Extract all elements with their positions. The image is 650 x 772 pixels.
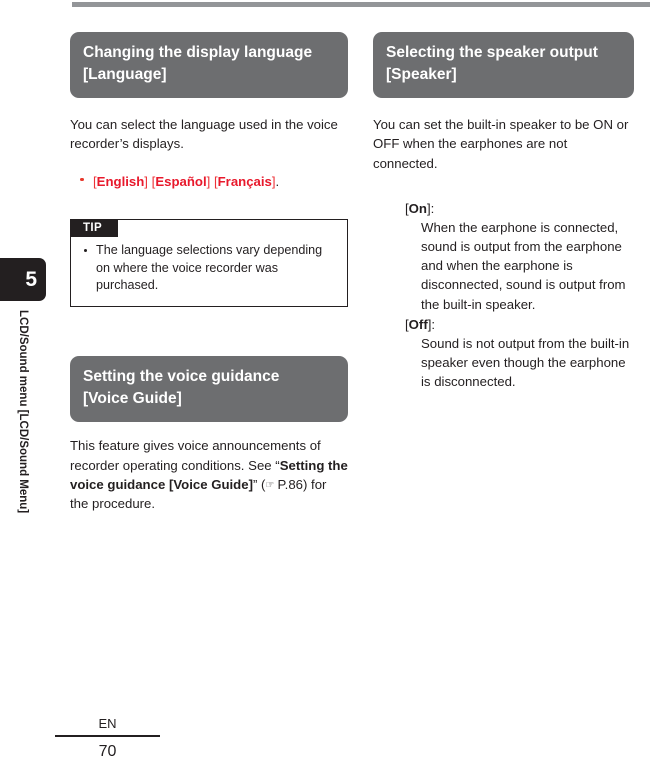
chapter-title-text: LCD/Sound menu [LCD/Sound Menu] — [17, 310, 29, 513]
section-heading-language: Changing the display language [Language] — [70, 32, 348, 98]
chapter-title-vertical: LCD/Sound menu [LCD/Sound Menu] — [0, 310, 46, 570]
section-heading-speaker-line2: [Speaker] — [386, 64, 621, 86]
voice-guide-body-text: This feature gives voice announcements o… — [70, 436, 348, 513]
reference-prefix: See “ — [248, 458, 280, 473]
section-heading-speaker-line1: Selecting the speaker output — [386, 42, 621, 64]
right-column: Selecting the speaker output [Speaker] Y… — [373, 32, 634, 391]
term-bracket-close: ]: — [428, 317, 435, 332]
reference-page: P.86) — [274, 477, 307, 492]
setting-term-on: [On]: — [405, 199, 634, 218]
term-label-off: Off — [409, 317, 428, 332]
option-english: English — [97, 174, 145, 189]
speaker-body-text: You can set the built-in speaker to be O… — [373, 115, 634, 173]
section-heading-language-line2: [Language] — [83, 64, 335, 86]
footer-language-code: EN — [55, 716, 160, 735]
left-column: Changing the display language [Language]… — [70, 32, 348, 513]
language-options-list: [English] [Español] [Français]. — [70, 172, 348, 191]
term-label-on: On — [409, 201, 427, 216]
bullet-dot-icon — [80, 178, 84, 182]
tip-box: TIP The language selections vary dependi… — [70, 219, 348, 308]
setting-description-off: Sound is not output from the built-in sp… — [405, 334, 634, 391]
pointing-hand-icon: ☞ — [265, 480, 273, 491]
top-page-rule — [72, 2, 650, 7]
page-number: 70 — [55, 737, 160, 761]
section-heading-voice-guide-line1: Setting the voice guidance — [83, 366, 335, 388]
tip-list-item: The language selections vary depending o… — [81, 242, 337, 296]
section-heading-voice-guide-line2: [Voice Guide] — [83, 388, 335, 410]
chapter-number: 5 — [25, 268, 37, 292]
options-trailing-period: . — [276, 174, 280, 189]
option-francais: Français — [218, 174, 272, 189]
speaker-settings-list: [On]: When the earphone is connected, so… — [373, 199, 634, 391]
section-heading-speaker: Selecting the speaker output [Speaker] — [373, 32, 634, 98]
section-heading-voice-guide: Setting the voice guidance [Voice Guide] — [70, 356, 348, 422]
setting-term-off: [Off]: — [405, 315, 634, 334]
chapter-number-tab: 5 — [0, 258, 46, 301]
tip-item-text: The language selections vary depending o… — [96, 243, 322, 293]
option-espanol: Español — [155, 174, 206, 189]
setting-description-on: When the earphone is connected, sound is… — [405, 218, 634, 314]
tip-badge-label: TIP — [70, 219, 118, 237]
reference-quote-close: ” ( — [253, 477, 265, 492]
bullet-dot-icon — [84, 249, 87, 252]
section-heading-language-line1: Changing the display language — [83, 42, 335, 64]
bracket-close: ] — [144, 174, 148, 189]
list-item: [English] [Español] [Français]. — [93, 172, 348, 191]
language-body-text: You can select the language used in the … — [70, 115, 348, 154]
page-footer: EN 70 — [55, 716, 160, 761]
bracket-close: ] — [207, 174, 211, 189]
term-bracket-close: ]: — [427, 201, 434, 216]
